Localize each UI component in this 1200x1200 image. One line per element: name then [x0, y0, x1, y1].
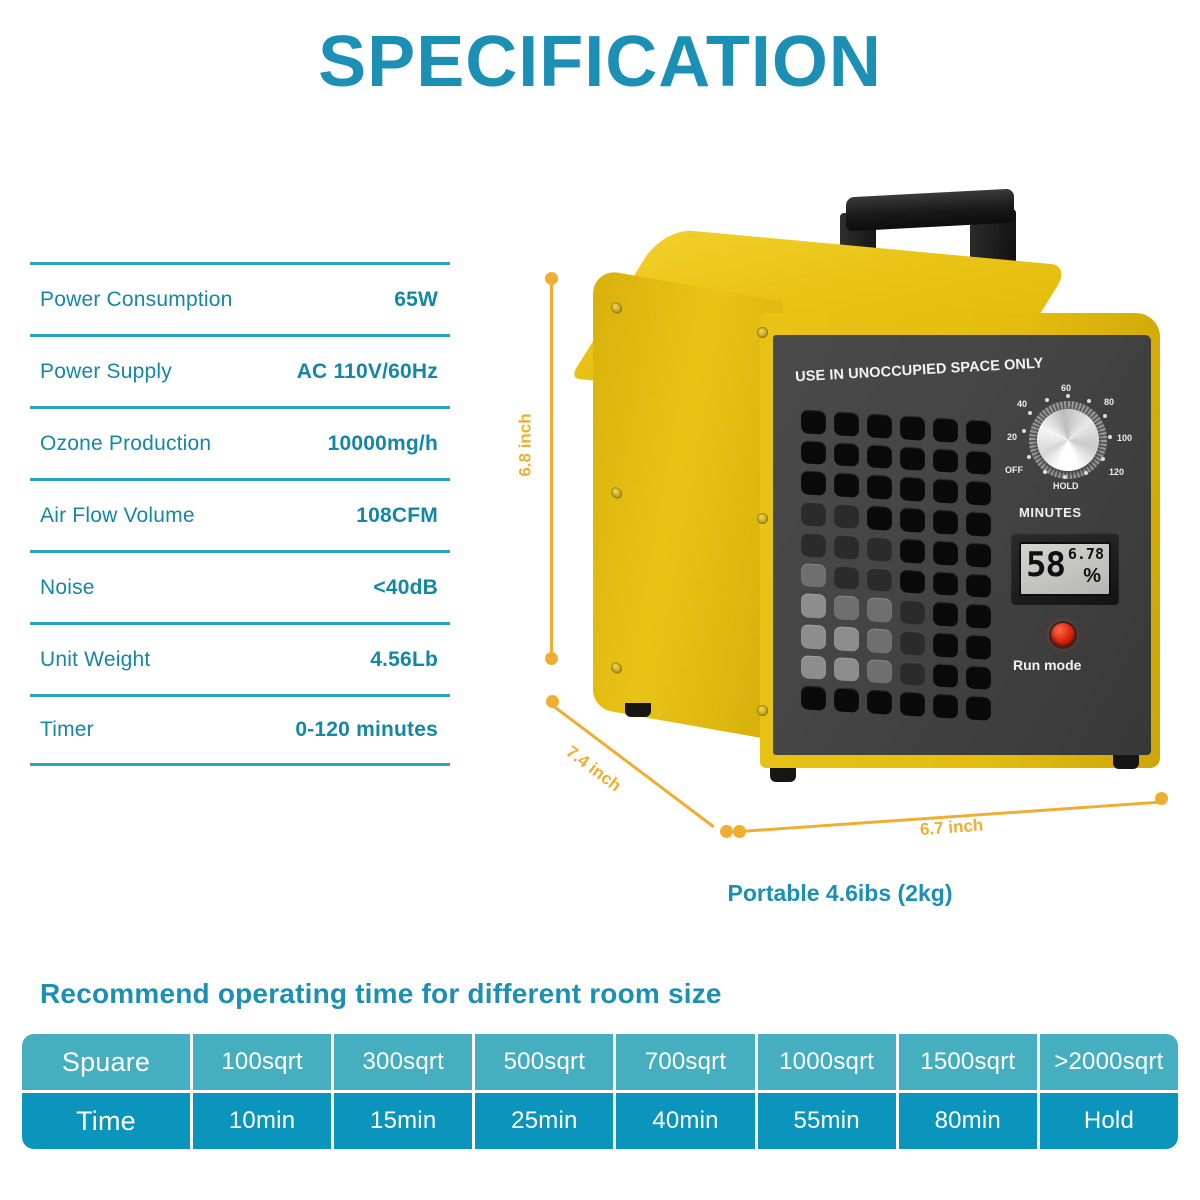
vent-hole [933, 694, 958, 719]
table-header-cell: >2000sqrt [1040, 1034, 1178, 1090]
vent-hole [834, 503, 859, 528]
vent-hole [834, 626, 859, 651]
control-cluster: OFF 20 40 60 80 100 120 HOLD MINUTES 58 … [991, 381, 1141, 501]
vent-hole [834, 657, 859, 682]
recommend-heading: Recommend operating time for different r… [40, 978, 722, 1010]
vent-hole [933, 448, 958, 473]
vent-hole [933, 571, 958, 596]
table-body-cell: 55min [758, 1093, 896, 1149]
dial-label-hold: HOLD [1053, 481, 1079, 491]
vent-hole [966, 419, 991, 444]
spec-value: 108CFM [356, 504, 438, 528]
vent-hole [900, 507, 925, 532]
product-illustration: 6.8 inch 7.4 inch 6.7 inch USE IN U [490, 170, 1190, 930]
screw-icon [757, 327, 768, 338]
dial-tick [1028, 411, 1032, 415]
vent-hole [966, 665, 991, 690]
table-header-cell: Spuare [22, 1034, 190, 1090]
vent-hole [966, 696, 991, 721]
vent-hole [933, 540, 958, 565]
vent-hole [834, 595, 859, 620]
dial-label-20: 20 [1007, 432, 1017, 442]
table-header-cell: 700sqrt [616, 1034, 754, 1090]
vent-hole [966, 481, 991, 506]
dial-tick [1103, 414, 1107, 418]
vent-hole [834, 534, 859, 559]
vent-hole [801, 685, 826, 710]
vent-hole [900, 661, 925, 686]
spec-label: Timer [40, 718, 94, 742]
spec-value: <40dB [373, 576, 438, 600]
spec-label: Air Flow Volume [40, 504, 195, 528]
vent-hole [933, 479, 958, 504]
lcd-temperature-value: 6.78 [1068, 547, 1104, 562]
spec-row: Power Consumption 65W [30, 262, 450, 334]
table-body-cell: 15min [334, 1093, 472, 1149]
vent-hole [801, 471, 826, 496]
run-mode-indicator-icon[interactable] [1049, 621, 1077, 649]
vent-hole [900, 477, 925, 502]
screw-icon [611, 486, 622, 499]
vent-hole [867, 413, 892, 438]
table-header-cell: 100sqrt [193, 1034, 331, 1090]
spec-label: Ozone Production [40, 432, 211, 456]
vent-hole [900, 415, 925, 440]
vent-hole [801, 593, 826, 618]
spec-value: 65W [394, 288, 438, 312]
vent-hole [801, 563, 826, 588]
dial-tick [1084, 471, 1088, 475]
vent-hole [966, 573, 991, 598]
vent-hole [900, 692, 925, 717]
dial-label-off: OFF [1005, 465, 1023, 475]
table-body-cell: 10min [193, 1093, 331, 1149]
spec-label: Unit Weight [40, 648, 150, 672]
vent-hole [933, 509, 958, 534]
vent-hole [867, 536, 892, 561]
lcd-screen: 58 6.78 % [1019, 542, 1111, 596]
dimension-label-height: 6.8 inch [516, 413, 536, 476]
dial-tick [1087, 399, 1091, 403]
dial-tick [1043, 470, 1047, 474]
spec-label: Noise [40, 576, 95, 600]
dial-label-120: 120 [1109, 467, 1124, 477]
spec-row: Unit Weight 4.56Lb [30, 622, 450, 694]
vent-hole [867, 597, 892, 622]
vent-hole [801, 440, 826, 465]
dimension-line-height [550, 278, 553, 658]
ozone-generator-unit: USE IN UNOCCUPIED SPACE ONLY [565, 185, 1185, 805]
vent-hole [933, 417, 958, 442]
vent-hole [867, 505, 892, 530]
vent-hole [801, 655, 826, 680]
dial-label-100: 100 [1117, 433, 1132, 443]
vent-hole [966, 542, 991, 567]
vent-hole [834, 473, 859, 498]
vent-hole [801, 409, 826, 434]
unit-side-face [593, 268, 783, 742]
spec-label: Power Consumption [40, 288, 233, 312]
table-body-cell: 40min [616, 1093, 754, 1149]
screw-icon [611, 301, 622, 314]
table-row-header: Spuare 100sqrt 300sqrt 500sqrt 700sqrt 1… [22, 1034, 1178, 1090]
table-row-time: Time 10min 15min 25min 40min 55min 80min… [22, 1093, 1178, 1149]
dial-tick [1027, 455, 1031, 459]
table-body-cell: 80min [899, 1093, 1037, 1149]
vent-hole [966, 634, 991, 659]
screw-icon [611, 661, 622, 674]
spec-row: Timer 0-120 minutes [30, 694, 450, 766]
spec-value: AC 110V/60Hz [297, 360, 438, 384]
dial-tick [1101, 457, 1105, 461]
table-header-cell: 1000sqrt [758, 1034, 896, 1090]
table-header-cell: 300sqrt [334, 1034, 472, 1090]
screw-icon [757, 513, 768, 524]
dial-knob[interactable] [1037, 409, 1099, 471]
screw-icon [757, 705, 768, 716]
timer-dial[interactable]: OFF 20 40 60 80 100 120 HOLD [991, 381, 1141, 501]
vent-hole [867, 690, 892, 715]
dial-label-60: 60 [1061, 383, 1071, 393]
vent-hole [867, 659, 892, 684]
dial-tick [1108, 435, 1112, 439]
vent-hole [900, 599, 925, 624]
table-body-cell: Time [22, 1093, 190, 1149]
vent-hole [801, 532, 826, 557]
vent-hole [834, 565, 859, 590]
vent-hole [900, 538, 925, 563]
spec-row: Noise <40dB [30, 550, 450, 622]
spec-row: Power Supply AC 110V/60Hz [30, 334, 450, 406]
rubber-foot [770, 768, 796, 782]
vent-hole [966, 511, 991, 536]
vent-hole [933, 632, 958, 657]
dial-label-40: 40 [1017, 399, 1027, 409]
vent-hole [966, 603, 991, 628]
spec-value: 4.56Lb [370, 648, 438, 672]
lcd-display: 58 6.78 % [1011, 533, 1119, 605]
vent-hole [867, 567, 892, 592]
lcd-humidity-value: 58 [1026, 548, 1065, 582]
dimension-dot-depth-bottom [720, 825, 733, 838]
vent-hole [834, 442, 859, 467]
vent-hole [900, 446, 925, 471]
table-header-cell: 500sqrt [475, 1034, 613, 1090]
spec-row: Air Flow Volume 108CFM [30, 478, 450, 550]
dial-tick [1066, 394, 1070, 398]
spec-label: Power Supply [40, 360, 172, 384]
page-title: SPECIFICATION [0, 26, 1200, 98]
spec-row: Ozone Production 10000mg/h [30, 406, 450, 478]
dial-tick [1045, 398, 1049, 402]
dial-tick [1063, 475, 1067, 479]
vent-hole [900, 569, 925, 594]
vent-hole [933, 601, 958, 626]
control-panel: USE IN UNOCCUPIED SPACE ONLY [773, 335, 1151, 755]
vent-grille [801, 409, 991, 721]
dial-label-80: 80 [1104, 397, 1114, 407]
vent-hole [801, 624, 826, 649]
specification-table: Power Consumption 65W Power Supply AC 11… [30, 262, 450, 766]
vent-hole [867, 628, 892, 653]
vent-hole [834, 411, 859, 436]
vent-hole [867, 475, 892, 500]
dimension-label-width: 6.7 inch [919, 816, 984, 840]
table-body-cell: 25min [475, 1093, 613, 1149]
vent-hole [801, 501, 826, 526]
dimension-dot-height-bottom [545, 652, 558, 665]
table-body-cell: Hold [1040, 1093, 1178, 1149]
lcd-percent-symbol: % [1083, 566, 1101, 586]
minutes-label: MINUTES [1019, 505, 1082, 520]
dial-tick [1022, 429, 1026, 433]
run-mode-label: Run mode [1013, 657, 1081, 673]
recommended-time-table: Spuare 100sqrt 300sqrt 500sqrt 700sqrt 1… [22, 1034, 1178, 1152]
vent-hole [834, 688, 859, 713]
rubber-foot [1113, 755, 1139, 769]
spec-value: 10000mg/h [328, 432, 438, 456]
vent-hole [867, 444, 892, 469]
rubber-foot [625, 703, 651, 717]
portable-caption: Portable 4.6ibs (2kg) [490, 880, 1190, 907]
spec-value: 0-120 minutes [295, 718, 438, 742]
vent-hole [933, 663, 958, 688]
vent-hole [900, 630, 925, 655]
vent-hole [966, 450, 991, 475]
table-header-cell: 1500sqrt [899, 1034, 1037, 1090]
